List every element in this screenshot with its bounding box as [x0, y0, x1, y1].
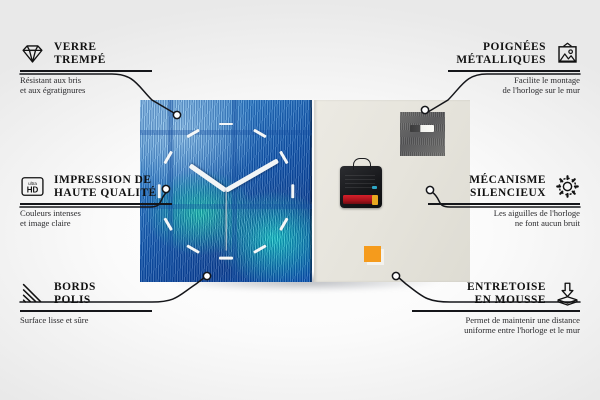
hanger-slot — [410, 125, 434, 132]
clock-mechanism — [340, 166, 382, 208]
diamond-icon — [20, 41, 45, 66]
clock-second-hand — [225, 191, 226, 251]
feature-impression-haute-qualite: ultra HD IMPRESSION DE HAUTE QUALITÉ Cou… — [20, 174, 210, 228]
hanging-frame-icon — [555, 41, 580, 66]
feature-rule — [428, 203, 580, 204]
foam-spacer-icon — [555, 281, 580, 306]
grid-line-v2 — [232, 100, 237, 282]
foam-spacer — [364, 246, 381, 262]
feature-rule — [20, 203, 172, 204]
feature-rule — [20, 310, 152, 311]
clock-tick — [219, 123, 233, 126]
feature-subtitle: Couleurs intenses et image claire — [20, 208, 210, 229]
feature-header: MÉCANISME SILENCIEUX — [400, 174, 580, 199]
clock-tick — [219, 257, 233, 260]
feature-header: ENTRETOISE EN MOUSSE — [390, 281, 580, 306]
feature-rule — [412, 310, 580, 311]
clock-tick — [292, 184, 295, 198]
feature-title: IMPRESSION DE HAUTE QUALITÉ — [54, 174, 157, 199]
metal-hanger-plate — [400, 112, 445, 156]
infographic-canvas: VERRE TREMPÉ Résistant aux bris et aux é… — [0, 0, 600, 400]
feature-header: BORDS POLIS — [20, 281, 190, 306]
feature-header: ultra HD IMPRESSION DE HAUTE QUALITÉ — [20, 174, 210, 199]
feature-bords-polis: BORDS POLIS Surface lisse et sûre — [20, 281, 190, 325]
gear-icon — [555, 174, 580, 199]
polished-edges-icon — [20, 281, 45, 306]
feature-poignees-metalliques: POIGNÉES MÉTALLIQUES Facilite le montage… — [410, 41, 580, 95]
feature-title: BORDS POLIS — [54, 281, 96, 306]
feature-title: POIGNÉES MÉTALLIQUES — [456, 41, 546, 66]
mechanism-texture — [345, 172, 375, 188]
feature-title: MÉCANISME SILENCIEUX — [469, 174, 546, 199]
mechanism-label — [372, 186, 377, 189]
feature-entretoise-en-mousse: ENTRETOISE EN MOUSSE Permet de maintenir… — [390, 281, 580, 335]
feature-mecanisme-silencieux: MÉCANISME SILENCIEUX Les aiguilles de l'… — [400, 174, 580, 228]
feature-rule — [20, 70, 152, 71]
feature-verre-trempe: VERRE TREMPÉ Résistant aux bris et aux é… — [20, 41, 190, 95]
hanging-loop — [353, 158, 371, 170]
feature-subtitle: Les aiguilles de l'horloge ne font aucun… — [400, 208, 580, 229]
feature-header: VERRE TREMPÉ — [20, 41, 190, 66]
feature-subtitle: Permet de maintenir une distance uniform… — [390, 315, 580, 336]
feature-subtitle: Surface lisse et sûre — [20, 315, 190, 325]
feature-title: VERRE TREMPÉ — [54, 41, 106, 66]
feature-title: ENTRETOISE EN MOUSSE — [467, 281, 546, 306]
battery-plus-terminal — [372, 195, 378, 205]
grid-line-h1 — [140, 130, 312, 135]
feature-subtitle: Facilite le montage de l'horloge sur le … — [410, 75, 580, 96]
feature-subtitle: Résistant aux bris et aux égratignures — [20, 75, 190, 96]
battery — [343, 195, 375, 204]
feature-header: POIGNÉES MÉTALLIQUES — [410, 41, 580, 66]
feature-rule — [448, 70, 580, 71]
ultra-hd-icon: ultra HD — [20, 174, 45, 199]
svg-text:HD: HD — [27, 186, 39, 195]
